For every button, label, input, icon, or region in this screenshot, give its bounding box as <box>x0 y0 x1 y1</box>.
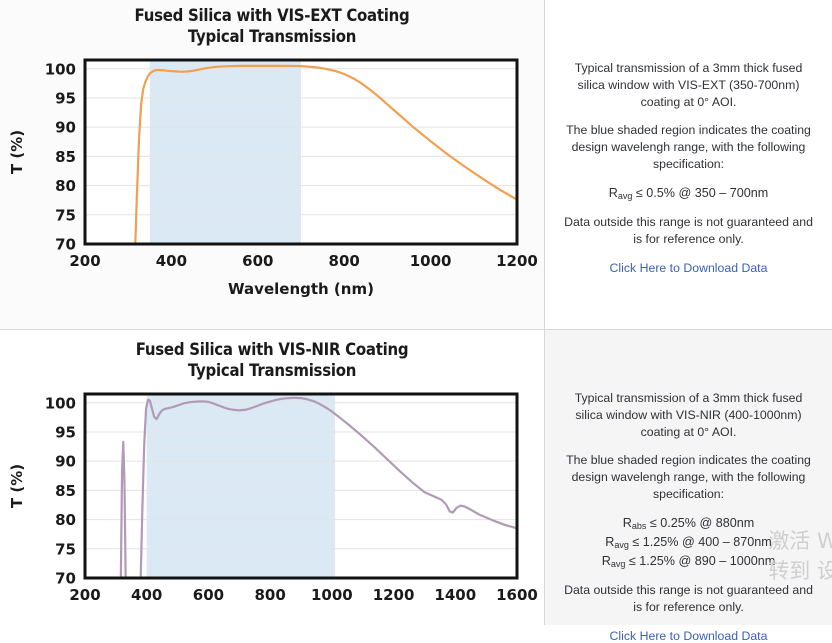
y-tick-label: 90 <box>55 119 76 137</box>
x-tick-label: 1200 <box>373 586 415 604</box>
chart-plot-vis-ext: 70758085909510020040060080010001200T (%)… <box>0 47 545 314</box>
x-tick-label: 200 <box>69 586 100 604</box>
x-tick-label: 1400 <box>434 586 476 604</box>
y-tick-label: 70 <box>55 236 76 254</box>
x-tick-label: 1000 <box>410 252 452 270</box>
chart-title-vis-ext: Fused Silica with VIS-EXT Coating Typica… <box>33 0 512 47</box>
y-tick-label: 85 <box>55 148 76 166</box>
chart-plot-vis-nir: 7075808590951002004006008001000120014001… <box>0 381 545 620</box>
y-axis-label: T (%) <box>8 130 26 174</box>
info-pane-vis-ext: Typical transmission of a 3mm thick fuse… <box>545 0 832 329</box>
download-data-link-vis-nir[interactable]: Click Here to Download Data <box>610 629 768 643</box>
chart-title-vis-nir: Fused Silica with VIS-NIR Coating Typica… <box>33 330 512 381</box>
chart-pane-vis-ext: Fused Silica with VIS-EXT Coating Typica… <box>0 0 545 329</box>
chart-title-line1: Fused Silica with VIS-NIR Coating <box>33 340 512 361</box>
chart-title-line1: Fused Silica with VIS-EXT Coating <box>33 6 512 27</box>
spec-line: Ravg ≤ 1.25% @ 890 – 1000nm <box>560 552 818 571</box>
y-tick-label: 80 <box>55 178 76 196</box>
x-tick-label: 800 <box>254 586 285 604</box>
x-tick-label: 800 <box>329 252 360 270</box>
chart-svg-vis-ext: 70758085909510020040060080010001200T (%)… <box>0 47 545 309</box>
x-tick-label: 600 <box>193 586 224 604</box>
x-tick-label: 400 <box>156 252 187 270</box>
x-tick-label: 200 <box>69 252 100 270</box>
spec-line: Ravg ≤ 1.25% @ 400 – 870nm <box>560 533 818 552</box>
x-tick-label: 1000 <box>311 586 353 604</box>
transmission-charts-page: Fused Silica with VIS-EXT Coating Typica… <box>0 0 832 625</box>
y-tick-label: 90 <box>55 453 76 471</box>
info-disclaimer-vis-ext: Data outside this range is not guarantee… <box>560 214 818 248</box>
y-tick-label: 80 <box>55 512 76 530</box>
chart-row-vis-nir: Fused Silica with VIS-NIR Coating Typica… <box>0 330 832 625</box>
spec-line: Ravg ≤ 0.5% @ 350 – 700nm <box>560 184 818 203</box>
y-tick-label: 75 <box>55 541 76 559</box>
info-shaded-region-note-vis-ext: The blue shaded region indicates the coa… <box>560 122 818 173</box>
y-tick-label: 95 <box>55 90 76 108</box>
y-tick-label: 75 <box>55 207 76 225</box>
y-tick-label: 95 <box>55 424 76 442</box>
info-spec-list-vis-ext: Ravg ≤ 0.5% @ 350 – 700nm <box>560 184 818 203</box>
chart-pane-vis-nir: Fused Silica with VIS-NIR Coating Typica… <box>0 330 545 625</box>
spec-line: Rabs ≤ 0.25% @ 880nm <box>560 514 818 533</box>
x-tick-label: 1600 <box>496 586 538 604</box>
info-spec-list-vis-nir: Rabs ≤ 0.25% @ 880nmRavg ≤ 1.25% @ 400 –… <box>560 514 818 571</box>
x-axis-label: Wavelength (nm) <box>228 280 374 298</box>
y-axis-label: T (%) <box>8 464 26 508</box>
x-tick-label: 1200 <box>496 252 538 270</box>
chart-row-vis-ext: Fused Silica with VIS-EXT Coating Typica… <box>0 0 832 330</box>
chart-title-line2: Typical Transmission <box>33 361 512 382</box>
info-description-vis-ext: Typical transmission of a 3mm thick fuse… <box>560 60 818 111</box>
shaded-design-region <box>147 394 335 578</box>
info-disclaimer-vis-nir: Data outside this range is not guarantee… <box>560 582 818 616</box>
y-tick-label: 100 <box>45 61 76 79</box>
shaded-design-region <box>150 60 301 244</box>
x-tick-label: 400 <box>131 586 162 604</box>
x-tick-label: 600 <box>242 252 273 270</box>
y-tick-label: 100 <box>45 395 76 413</box>
info-description-vis-nir: Typical transmission of a 3mm thick fuse… <box>560 390 818 441</box>
y-tick-label: 85 <box>55 482 76 500</box>
chart-title-line2: Typical Transmission <box>33 27 512 48</box>
download-data-link-vis-ext[interactable]: Click Here to Download Data <box>610 261 768 275</box>
info-pane-vis-nir: Typical transmission of a 3mm thick fuse… <box>545 330 832 625</box>
chart-svg-vis-nir: 7075808590951002004006008001000120014001… <box>0 381 545 615</box>
info-shaded-region-note-vis-nir: The blue shaded region indicates the coa… <box>560 452 818 503</box>
y-tick-label: 70 <box>55 570 76 588</box>
